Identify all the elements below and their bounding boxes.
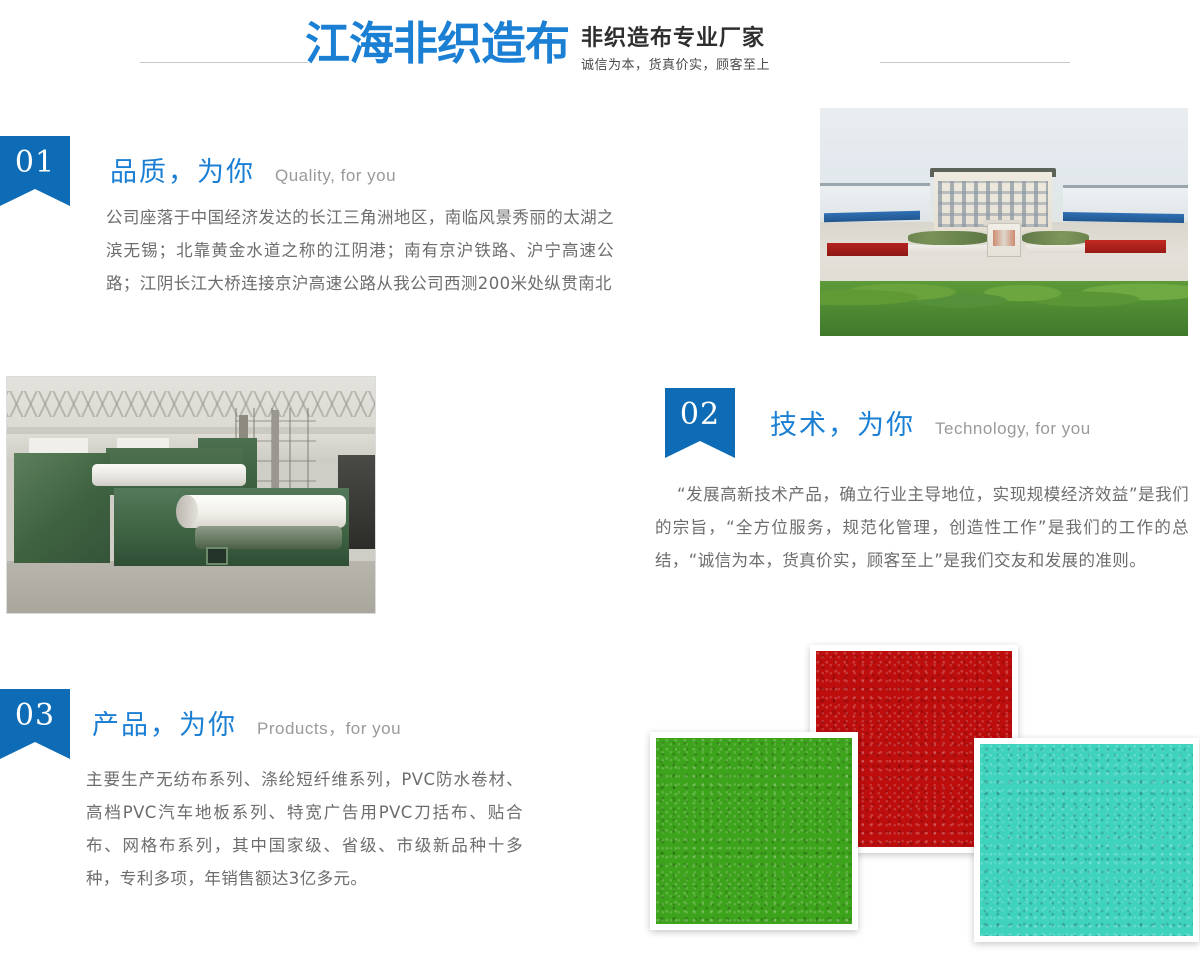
photo-wall-left <box>908 245 996 254</box>
section-body-01: 公司座落于中国经济发达的长江三角洲地区，南临风景秀丽的太湖之滨无锡；北靠黄金水道… <box>106 201 614 300</box>
brand-title: 江海非织造布 <box>305 18 569 70</box>
brand-subtitle: 非织造布专业厂家 <box>581 26 770 52</box>
turquoise-swatch-surface <box>980 744 1193 936</box>
promo-page: 江海非织造布 非织造布专业厂家 诚信为本，货真价实，顾客至上 01 品质，为你 … <box>0 0 1200 969</box>
section-title-01: 品质，为你 Quality, for you <box>110 150 396 189</box>
section-title-cn-02: 技术，为你 <box>770 403 915 442</box>
photo-hedge-foreground <box>820 281 1188 336</box>
factory-building-photo <box>820 108 1188 336</box>
section-badge-02: 02 <box>665 388 735 441</box>
photo-guard-booth-window <box>993 230 1015 246</box>
machine-roof-truss <box>7 391 375 417</box>
machine-control-box <box>206 547 228 565</box>
section-body-03: 主要生产无纺布系列、涤纶短纤维系列，PVC防水卷材、高档PVC汽车地板系列、特宽… <box>86 763 523 895</box>
page-header: 江海非织造布 非织造布专业厂家 诚信为本，货真价实，顾客至上 <box>0 0 1200 100</box>
machine-take-up-cylinder <box>195 526 342 550</box>
machine-fabric-roll-upper <box>92 464 247 485</box>
section-title-en-01: Quality, for you <box>275 166 396 186</box>
turquoise-pvc-leather-swatch <box>974 738 1199 942</box>
photo-courtyard-shrub-right <box>1022 231 1088 245</box>
machine-fabric-roll-lower <box>180 495 346 528</box>
section-title-en-03: Products，for you <box>257 714 401 739</box>
photo-wall-right <box>1026 245 1085 253</box>
section-title-en-02: Technology, for you <box>935 419 1091 439</box>
brand-block: 江海非织造布 非织造布专业厂家 诚信为本，货真价实，顾客至上 <box>305 18 770 76</box>
section-title-03: 产品，为你 Products，for you <box>92 703 401 742</box>
production-line-photo <box>6 376 376 614</box>
section-badge-01: 01 <box>0 136 70 189</box>
section-title-cn-01: 品质，为你 <box>110 150 255 189</box>
photo-right-awning <box>1063 212 1184 223</box>
machine-beam <box>7 427 375 435</box>
header-rule-right <box>880 62 1070 63</box>
photo-company-sign-left <box>827 243 908 257</box>
photo-courtyard-shrub-left <box>908 231 989 245</box>
section-badge-03: 03 <box>0 689 70 742</box>
section-title-02: 技术，为你 Technology, for you <box>770 403 1091 442</box>
section-body-02: “发展高新技术产品，确立行业主导地位，实现规模经济效益”是我们的宗旨，“全方位服… <box>655 478 1189 577</box>
green-swatch-surface <box>656 738 852 924</box>
section-title-cn-03: 产品，为你 <box>92 703 237 742</box>
brand-slogan: 诚信为本，货真价实，顾客至上 <box>581 56 770 76</box>
green-pvc-leather-swatch <box>650 732 858 930</box>
photo-company-sign-right <box>1085 240 1166 253</box>
header-rule-left <box>140 62 308 63</box>
machine-floor <box>7 561 375 613</box>
machine-pipe-2 <box>272 410 279 500</box>
brand-tagline-block: 非织造布专业厂家 诚信为本，货真价实，顾客至上 <box>581 18 770 76</box>
